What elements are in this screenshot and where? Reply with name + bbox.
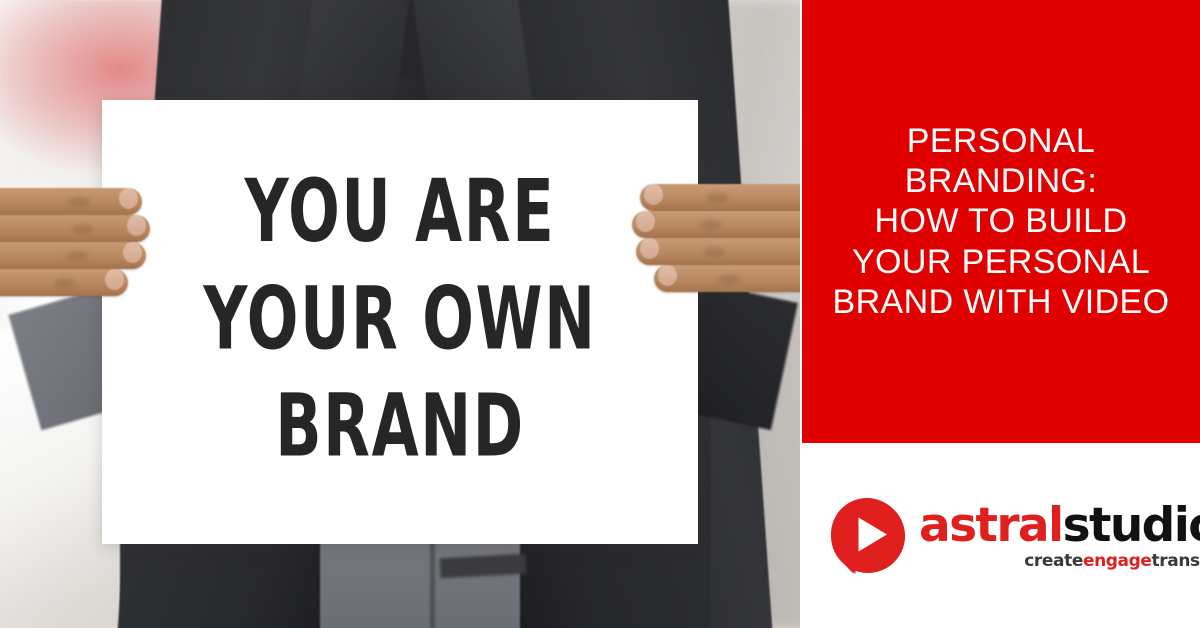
knuckle [718, 274, 740, 284]
sign-line-1: YOU ARE [162, 158, 639, 265]
logo-tagline-create: create [1024, 551, 1083, 571]
knuckle [54, 278, 76, 288]
knuckle [706, 193, 728, 203]
knuckle [704, 247, 726, 257]
headline-line-2: BRANDING: [833, 161, 1170, 201]
finger [636, 238, 800, 265]
headline-text: PERSONAL BRANDING: HOW TO BUILD YOUR PER… [817, 121, 1186, 322]
finger [0, 188, 142, 215]
photo-subject-right-hand [596, 182, 800, 308]
knuckle [66, 251, 88, 261]
headline-line-1: PERSONAL [833, 121, 1170, 161]
headline-line-5: BRAND WITH VIDEO [833, 282, 1170, 322]
finger [0, 269, 128, 296]
fingernail [658, 265, 677, 286]
sign-text-block: YOU ARE YOUR OWN BRAND [162, 158, 639, 480]
play-button-speech-bubble-icon [828, 497, 906, 575]
logo-wordmark: astralstudios createengagetransform [919, 502, 1200, 570]
headline-panel: PERSONAL BRANDING: HOW TO BUILD YOUR PER… [802, 0, 1200, 443]
finger [0, 215, 150, 242]
finger [654, 265, 800, 292]
logo-name-astral: astral [919, 498, 1063, 553]
astral-studios-logo[interactable]: astralstudios createengagetransform [828, 497, 1200, 575]
finger [640, 184, 800, 211]
fingernail [123, 242, 142, 263]
headline-line-4: YOUR PERSONAL [833, 242, 1170, 282]
fingernail [636, 211, 655, 232]
fingernail [119, 188, 138, 209]
hero-photo-panel: YOU ARE YOUR OWN BRAND [0, 0, 800, 628]
sign-line-3: BRAND [162, 373, 639, 480]
logo-tagline-transform: transform [1152, 551, 1200, 571]
fingernail [640, 238, 659, 259]
logo-area: astralstudios createengagetransform [802, 443, 1200, 628]
headline-line-3: HOW TO BUILD [833, 201, 1170, 241]
fingernail [105, 269, 124, 290]
logo-tagline-engage: engage [1083, 551, 1152, 571]
logo-name: astralstudios [919, 502, 1200, 549]
sign-line-2: YOUR OWN [162, 265, 639, 372]
fingernail [127, 215, 146, 236]
finger [632, 211, 800, 238]
finger [0, 242, 146, 269]
held-sign: YOU ARE YOUR OWN BRAND [102, 100, 698, 544]
blog-banner: YOU ARE YOUR OWN BRAND PERSONAL BRANDING… [0, 0, 1200, 628]
knuckle [72, 224, 94, 234]
logo-tagline: createengagetransform [1024, 553, 1200, 570]
photo-subject-left-hand [0, 186, 180, 306]
logo-name-studios: studios [1063, 498, 1200, 553]
knuckle [68, 197, 90, 207]
fingernail [644, 184, 663, 205]
knuckle [700, 220, 722, 230]
